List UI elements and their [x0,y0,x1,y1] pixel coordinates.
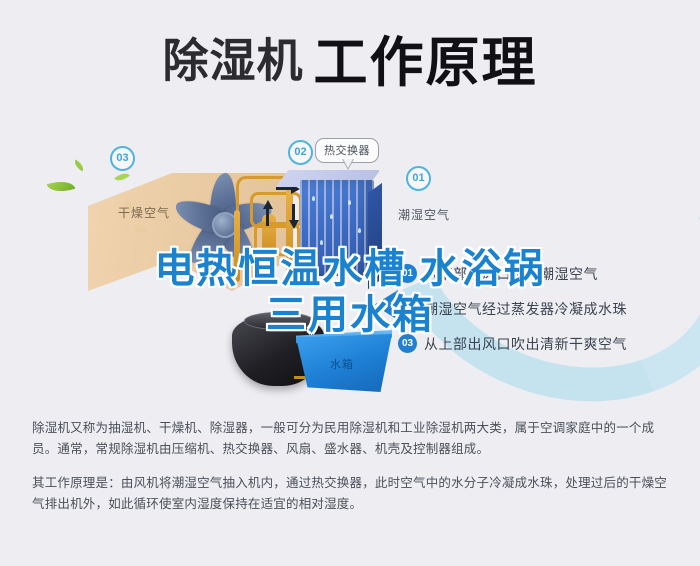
diagram-badge-03: 03 [110,146,135,171]
heat-exchanger-side [368,183,382,289]
step-label: 潮湿空气经过蒸发器冷凝成水珠 [424,299,627,319]
flow-arrow-down-icon [289,220,299,229]
humid-air-arrow-head-icon [374,290,398,320]
diagram-badge-01: 01 [406,166,431,191]
body-copy: 除湿机又称为抽湿机、干燥机、除湿器，一般可分为民用除湿机和工业除湿机两大类，属于… [32,418,672,522]
heat-exchanger-fins [300,180,374,276]
water-droplet-icon [330,214,333,219]
step-item: 01 从下部进风口吸入潮湿空气 [398,256,688,291]
water-droplet-icon [320,240,323,245]
diagram-badge-02: 02 [288,140,313,165]
flow-arrow-up-icon [263,200,273,209]
body-paragraph-1: 除湿机又称为抽湿机、干燥机、除湿器，一般可分为民用除湿机和工业除湿机两大类，属于… [32,418,672,460]
step-list: 01 从下部进风口吸入潮湿空气 02 潮湿空气经过蒸发器冷凝成水珠 03 从上部… [398,256,688,361]
page-title: 除湿机工作原理 [0,18,700,97]
leaf-icon [47,176,76,196]
water-droplet-icon [312,196,315,201]
leaf-icon [72,159,86,171]
coil-pipe [286,188,293,284]
flow-arrow-stem [276,187,292,190]
humid-air-label: 潮湿空气 [398,206,450,223]
page-title-part-2: 工作原理 [314,33,538,93]
leaf-icon [114,169,130,184]
water-droplet-icon [358,228,361,233]
step-number: 02 [398,299,417,318]
body-paragraph-2: 其工作原理是：由风机将潮湿空气抽入机内，通过热交换器，此时空气中的水分子冷凝成水… [32,473,672,515]
dehumidifier-diagram: 03 干燥空气 02 热交换器 水箱 01 潮湿空气 [0,118,700,406]
step-item: 02 潮湿空气经过蒸发器冷凝成水珠 [398,291,688,326]
dry-air-label: 干燥空气 [118,204,170,221]
water-droplet-icon [344,252,347,257]
flow-arrow-stem [266,208,269,226]
step-item: 03 从上部出风口吹出清新干爽空气 [398,326,688,361]
step-label: 从上部出风口吹出清新干爽空气 [424,334,627,354]
water-tank-label: 水箱 [330,356,354,372]
page-title-part-1: 除湿机 [163,35,304,87]
water-droplet-icon [348,200,351,205]
coil-pipe [234,210,240,282]
step-label: 从下部进风口吸入潮湿空气 [424,264,598,284]
step-number: 03 [398,334,417,353]
callout-pointer-icon [342,157,354,168]
compressor-ring [244,312,314,330]
step-number: 01 [398,264,417,283]
